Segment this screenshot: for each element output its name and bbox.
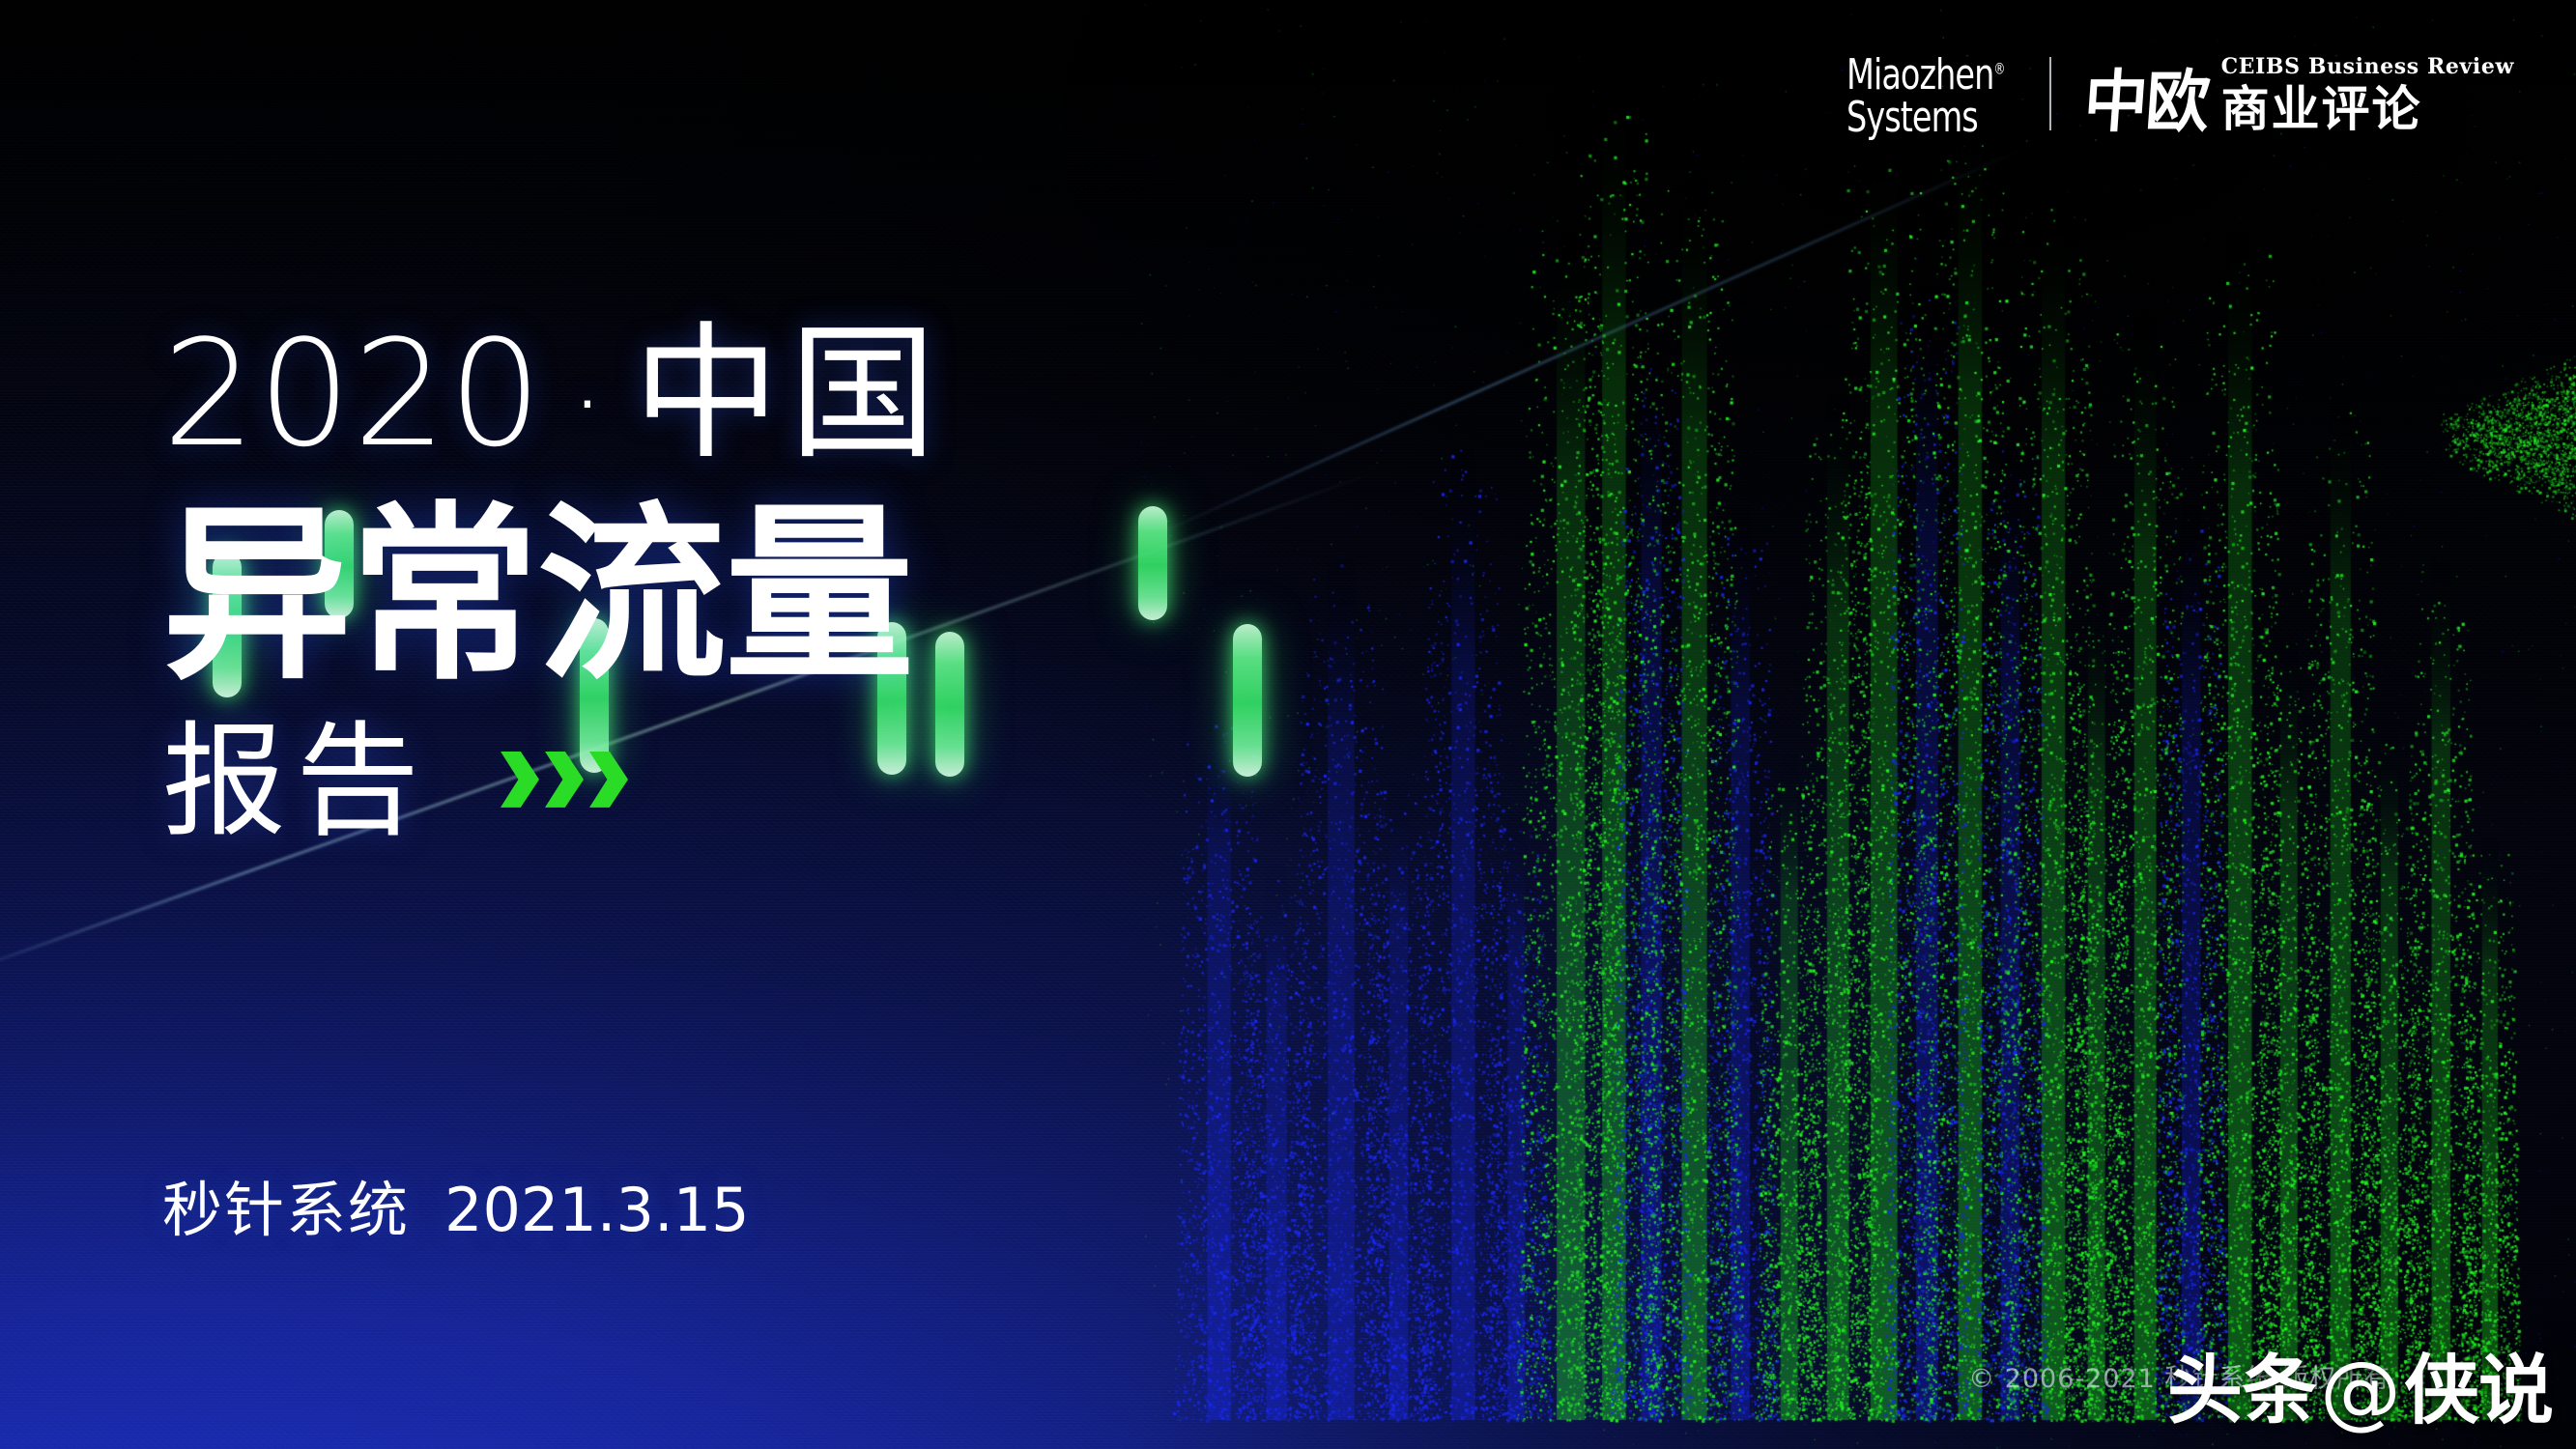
title-headline-text: 异常流量 (162, 486, 912, 706)
accent-bar-icon (1138, 506, 1167, 620)
title-year-line: 2020·中国 (162, 321, 1302, 468)
ceibs-logo-english: CEIBS Business Review (2221, 54, 2514, 79)
ceibs-logo-mark: 中欧 (2081, 68, 2210, 135)
title-year: 2020 (162, 308, 544, 479)
title-block: 2020·中国 异常流量 报告 (162, 321, 1302, 844)
chevron-icon (501, 752, 539, 808)
accent-bar-icon (877, 622, 906, 775)
title-headline: 异常流量 (162, 500, 1302, 694)
accent-bar-icon (213, 553, 242, 697)
title-subtitle: 报告 (162, 721, 429, 844)
waveform-visualization (1140, 0, 2576, 1449)
watermark-handle: 侠说 (2404, 1353, 2553, 1429)
title-subtitle-row: 报告 (162, 721, 1302, 844)
accent-bar-icon (935, 632, 964, 777)
chevron-arrows-icon (501, 752, 628, 808)
registered-mark-icon: ® (1993, 61, 2004, 78)
chevron-icon (545, 752, 584, 808)
ceibs-logo-chinese: 商业评论 (2221, 85, 2514, 133)
slide-canvas: Miaozhen® Systems 中欧 CEIBS Business Revi… (0, 0, 2576, 1449)
byline-date: 2021.3.15 (444, 1175, 750, 1245)
watermark-at-symbol: @ (2320, 1350, 2400, 1432)
miaozhen-logo[interactable]: Miaozhen® Systems (1846, 56, 2017, 131)
accent-bar-icon (580, 618, 609, 773)
logo-divider (2049, 57, 2051, 130)
byline: 秒针系统2021.3.15 (162, 1180, 750, 1240)
ceibs-logo[interactable]: 中欧 CEIBS Business Review 商业评论 (2084, 54, 2514, 133)
logo-bar: Miaozhen® Systems 中欧 CEIBS Business Revi… (1846, 54, 2514, 133)
accent-bar-icon (1233, 624, 1262, 777)
miaozhen-logo-line2: Systems (1846, 99, 2005, 139)
title-region: 中国 (633, 308, 946, 479)
ceibs-logo-text: CEIBS Business Review 商业评论 (2221, 54, 2514, 133)
watermark-brand: 头条 (2167, 1353, 2316, 1429)
accent-bar-icon (325, 510, 354, 618)
chevron-icon (589, 752, 628, 808)
watermark-overlay: 头条 @ 侠说 (2167, 1350, 2553, 1432)
byline-organization: 秒针系统 (162, 1175, 410, 1245)
miaozhen-logo-line1: Miaozhen® (1846, 56, 2005, 97)
title-separator-dot: · (544, 337, 633, 471)
waveform-canvas (1140, 0, 2576, 1449)
